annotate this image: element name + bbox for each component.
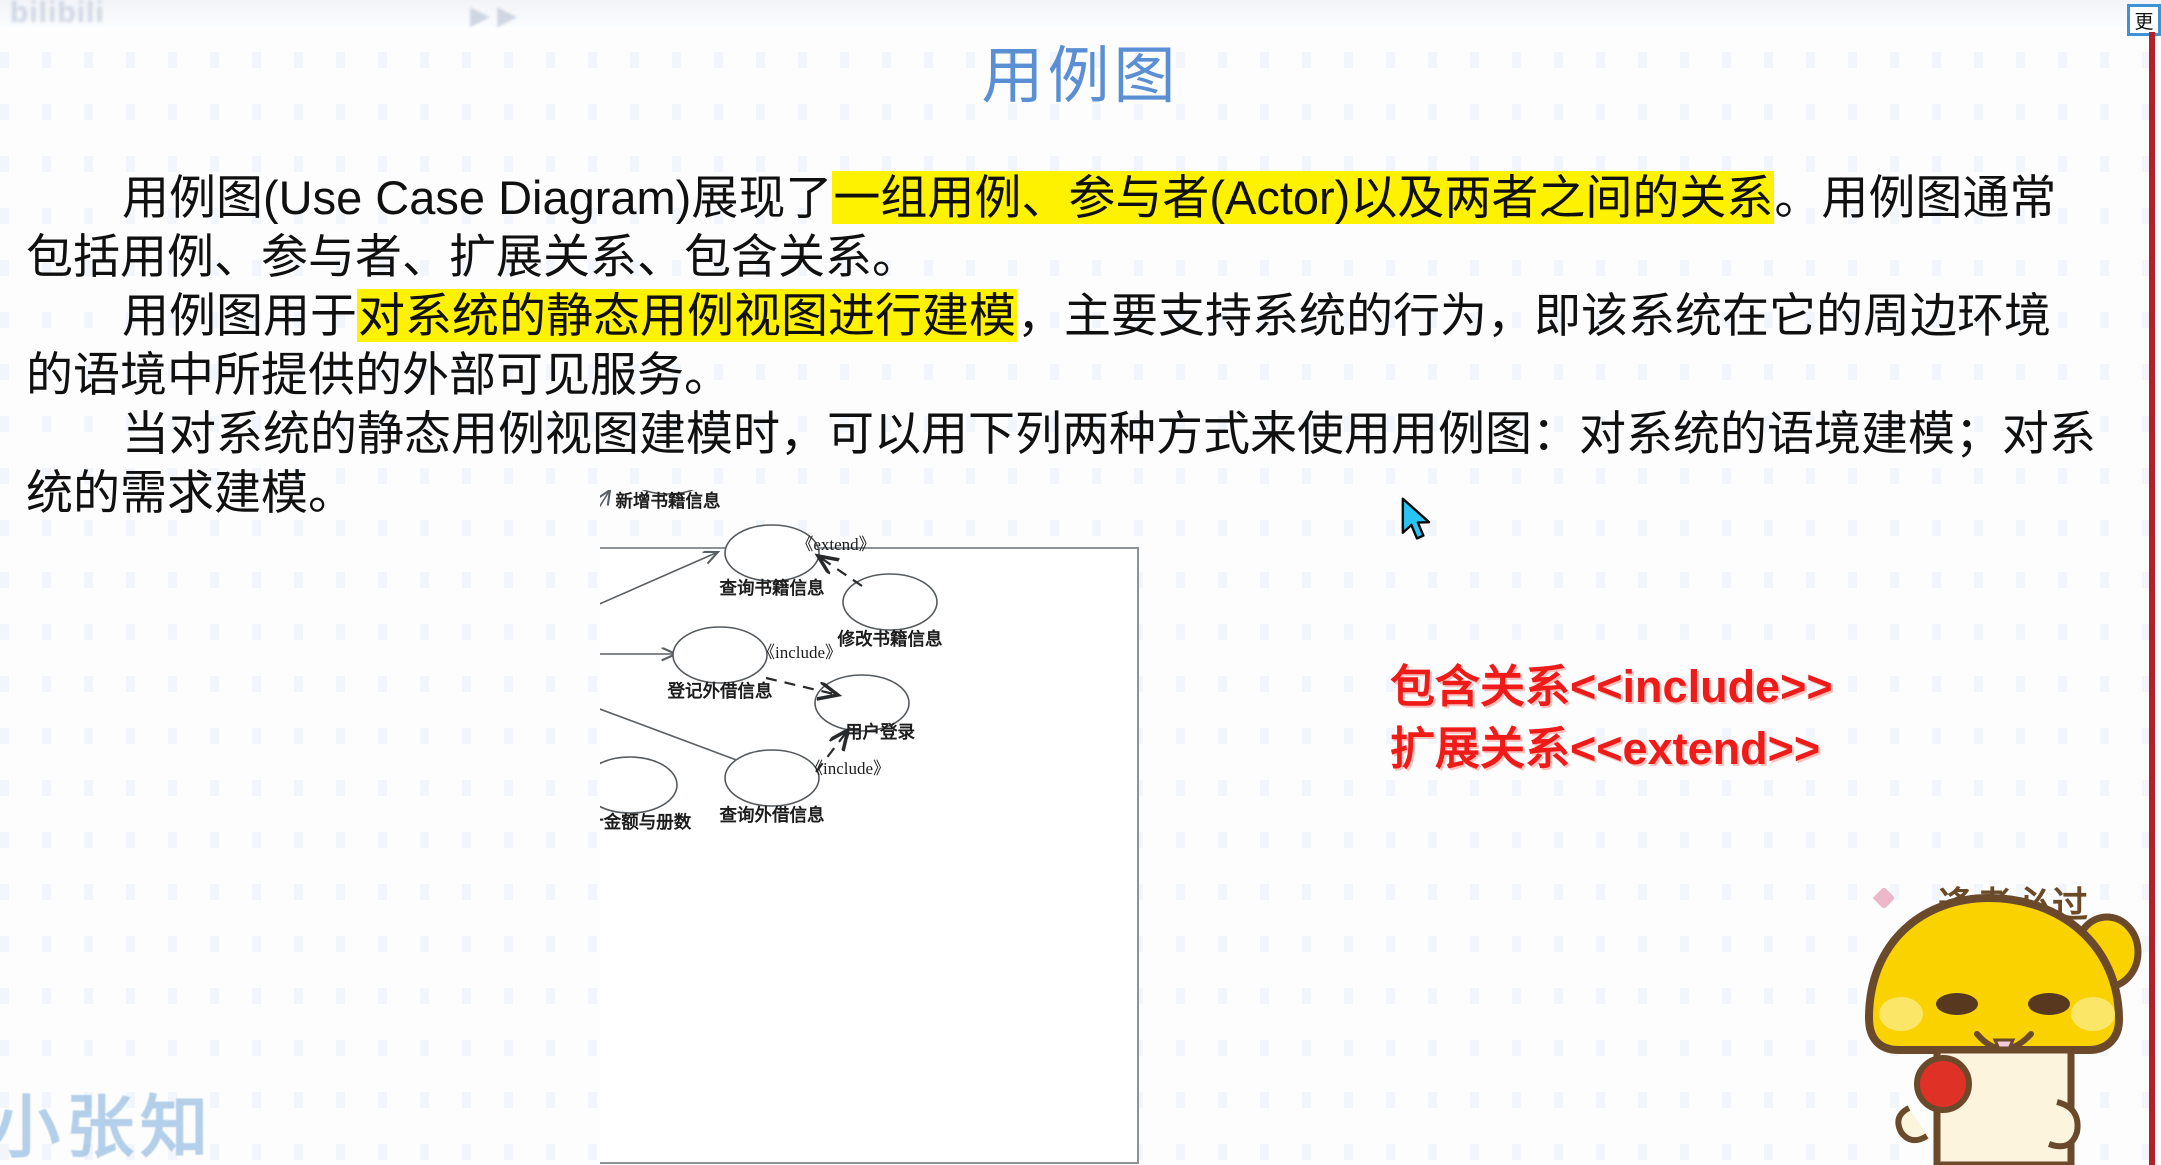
paragraph-2: 用例图用于对系统的静态用例视图进行建模，主要支持系统的行为，即该系统在它的周边环… [26,286,2096,404]
usecase-label-query-book: 查询书籍信息 [719,578,825,598]
usecase-label-modify-book: 修改书籍信息 [837,629,943,649]
stereotype-extend: 《extend》 [796,535,875,554]
play-logo-ghost-icon: ▶ ▶ [470,0,517,30]
mascot-cheek-right [2071,997,2115,1031]
page-title: 用例图 [0,46,2161,108]
usecase-label-stats: 统计金额与册数 [600,812,692,832]
calligraphy-watermark: 小张知 [0,1072,214,1165]
mascot-hand-left [1898,1108,1927,1140]
mascot-berry [1917,1058,1969,1110]
relationship-notes: 包含关系<<include>> 扩展关系<<extend>> [1390,656,1833,780]
player-chrome-strip: bilibili ▶ ▶ [0,0,2161,30]
run-highlighted: 一组用例、参与者(Actor)以及两者之间的关系 [832,171,1774,224]
run-plain: 用例图(Use Case Diagram)展现了 [122,171,832,224]
usecase-label-add-book: 新增书籍信息 [616,491,721,511]
use-case-diagram: 图书管理员 新增书籍信息 查询书籍信息 修改书籍信息 登记外借信息 用户登录 统… [600,490,1420,1165]
usecase-label-reg-loan: 登记外借信息 [667,681,773,701]
site-logo-ghost-text: bilibili [10,0,105,30]
top-right-chip[interactable]: 更 [2127,4,2161,36]
run-highlighted: 对系统的静态用例视图进行建模 [357,289,1017,342]
mascot-illustration [1845,858,2155,1165]
run-plain: 用例图用于 [122,289,357,342]
mascot-cheek-left [1879,997,1923,1031]
note-extend: 扩展关系<<extend>> [1390,718,1833,780]
note-include: 包含关系<<include>> [1390,656,1833,718]
usecase-ellipse-reg-loan [673,627,767,683]
mascot-eye-right [2028,993,2070,1015]
usecase-label-user-login: 用户登录 [845,722,915,742]
usecase-label-query-loan: 查询外借信息 [719,805,825,825]
mascot-eye-left [1936,993,1978,1015]
stereotype-include-2: 《include》 [806,759,890,778]
slide-stage: bilibili ▶ ▶ 更 用例图 用例图(Use Case Diagram)… [0,0,2161,1165]
usecase-ellipse-query-loan [725,750,819,806]
paragraph-1: 用例图(Use Case Diagram)展现了一组用例、参与者(Actor)以… [26,168,2096,286]
stereotype-include-1: 《include》 [758,643,842,662]
slide-body-text: 用例图(Use Case Diagram)展现了一组用例、参与者(Actor)以… [26,168,2096,522]
